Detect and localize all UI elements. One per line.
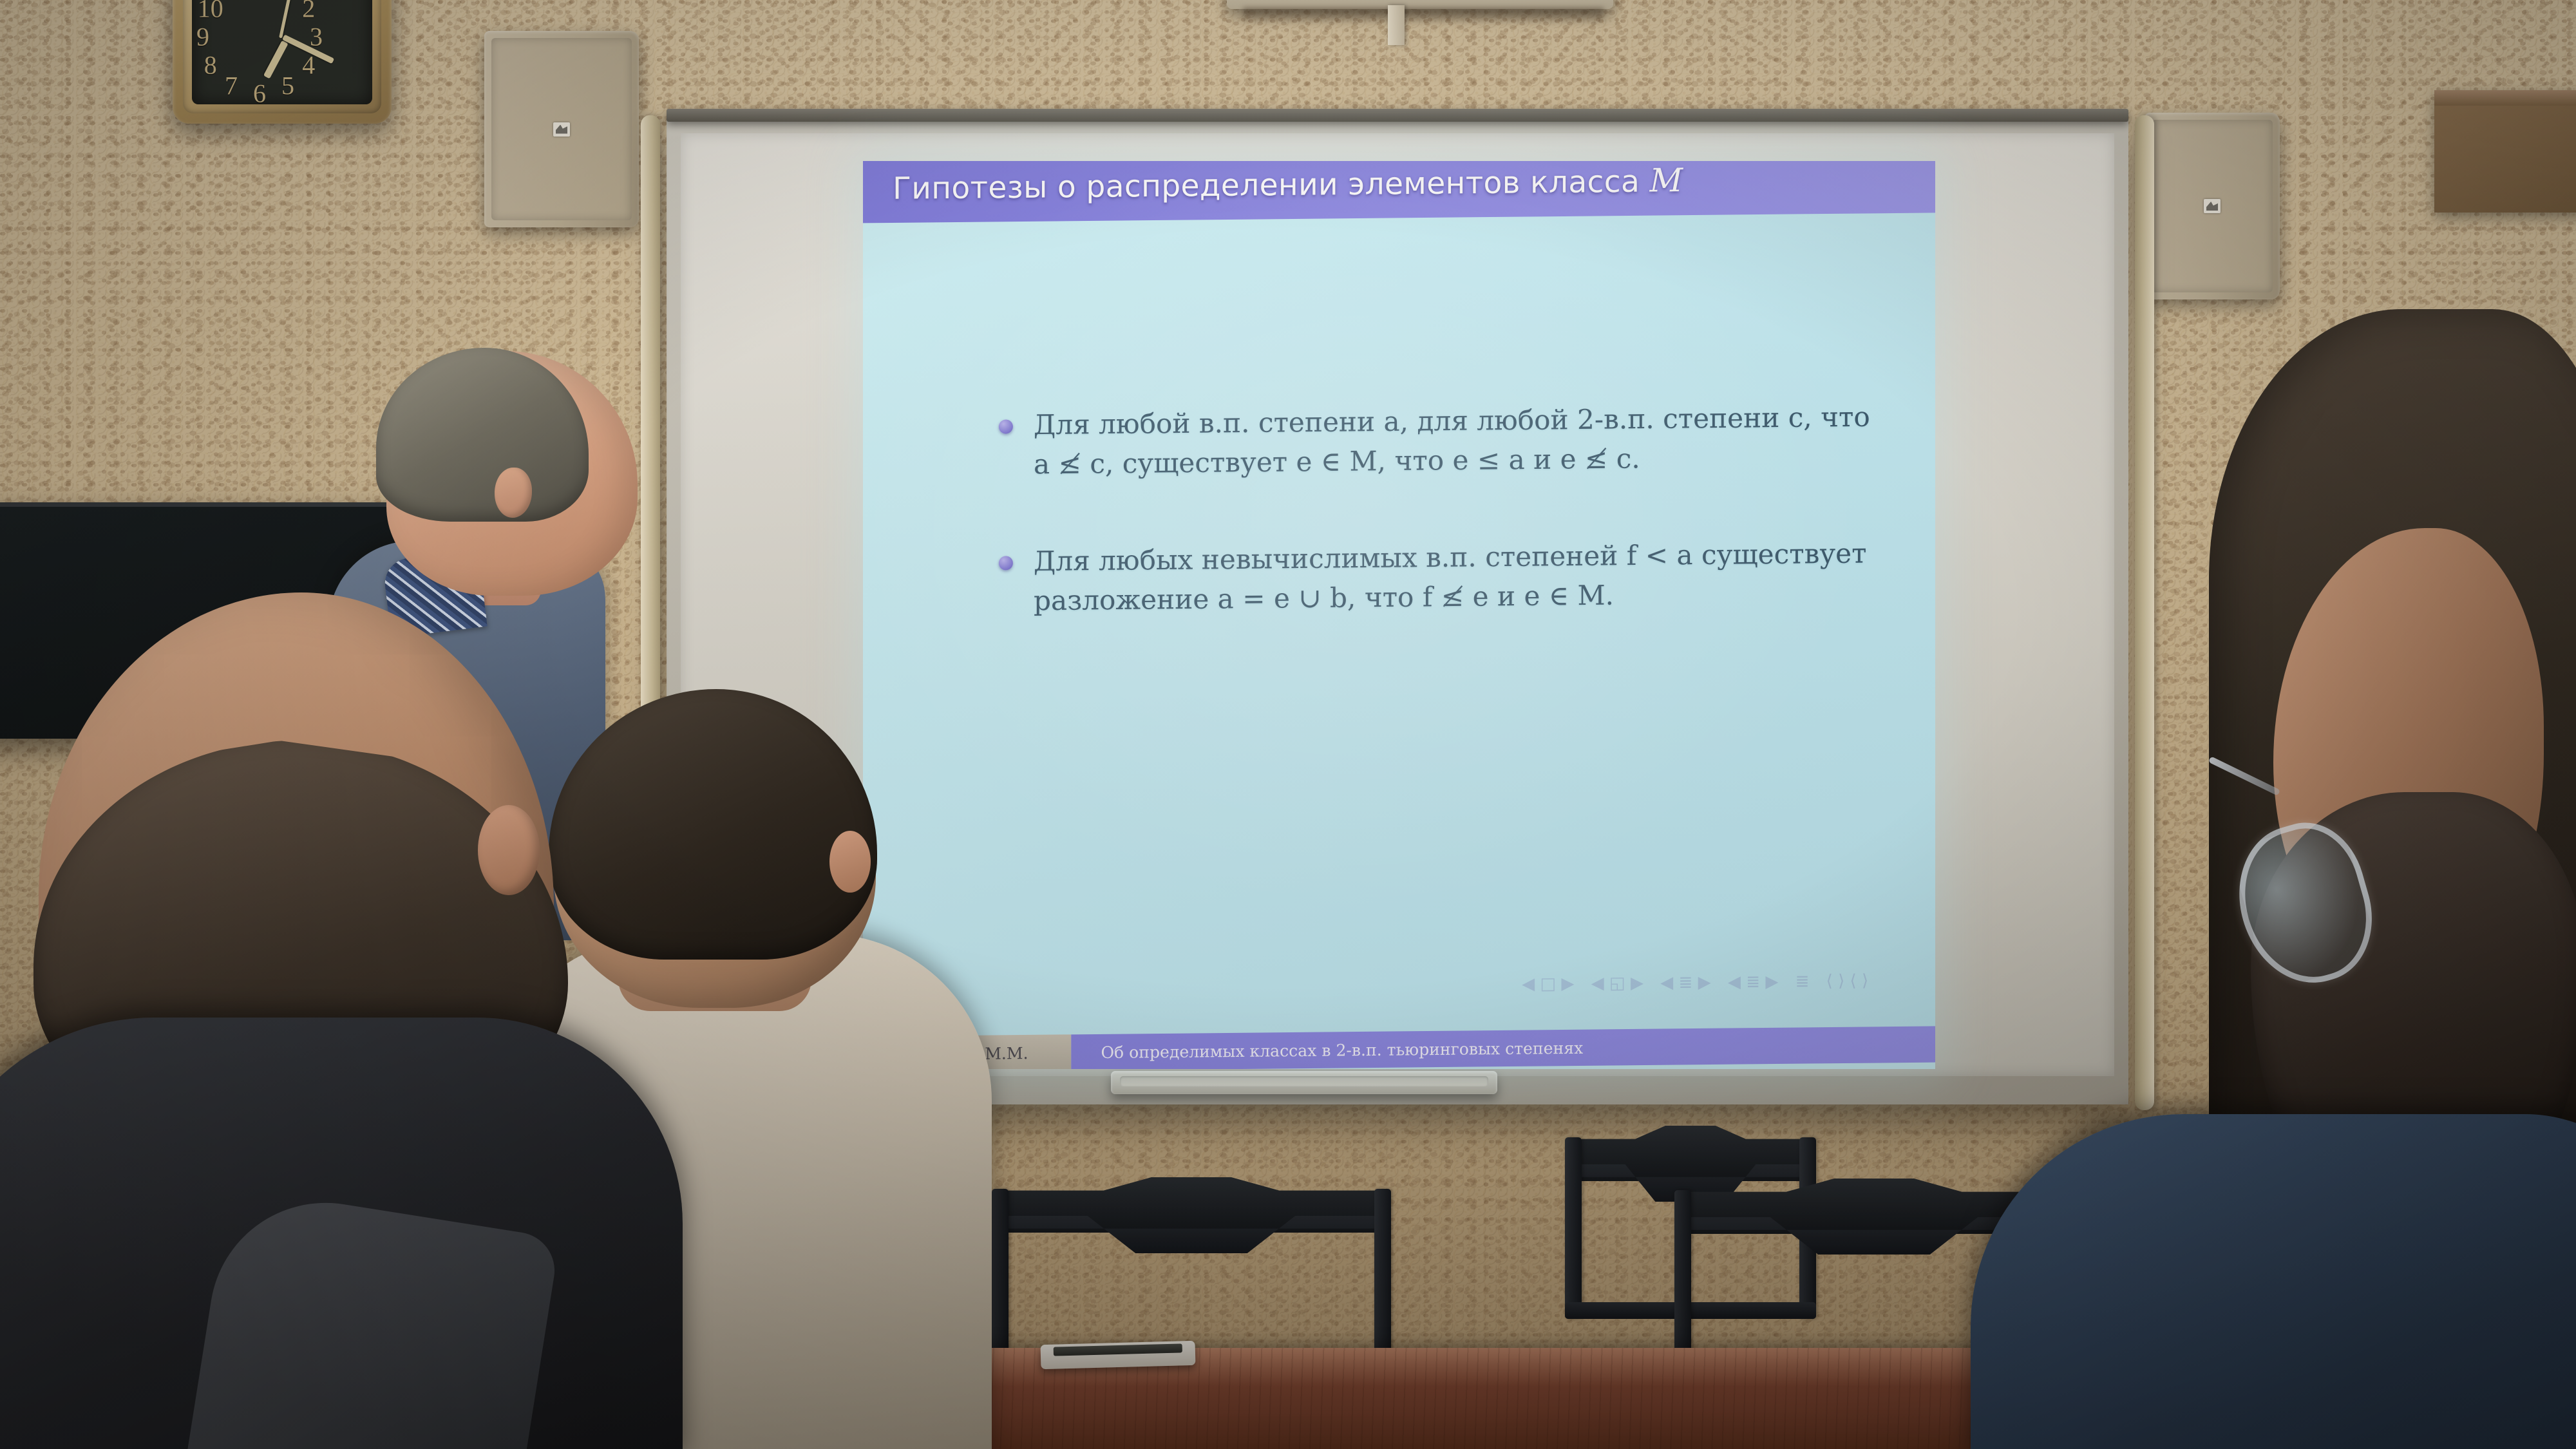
projector-mount-pole [1388, 5, 1405, 45]
whiteboard-pen-tray [1111, 1071, 1497, 1094]
wall-clock: 121234567891011 [173, 0, 392, 124]
chair-post-left [992, 1189, 1009, 1370]
audience-left-torso [0, 1018, 683, 1449]
nav-symbol[interactable]: ⟨ ⟩ ⟨ ⟩ [1826, 971, 1869, 991]
projector-mount-shadow [1243, 8, 1604, 24]
nav-symbol[interactable]: ◀ ≣ ▶ [1660, 972, 1711, 992]
speaker-logo-icon [553, 122, 570, 137]
nav-symbol[interactable]: ◀ □ ▶ [1522, 974, 1574, 994]
whiteboard-top-rail [667, 109, 2128, 122]
talk-title: Об определимых классах в 2-в.п. тьюринго… [1101, 1038, 1583, 1061]
nav-symbol[interactable]: ◀ ≣ ▶ [1728, 972, 1779, 992]
projected-slide: Гипотезы о распределении элементов класс… [863, 161, 1935, 1069]
clock-numeral: 8 [204, 50, 217, 80]
slide-title-bar: Гипотезы о распределении элементов класс… [863, 161, 1935, 223]
clock-face: 121234567891011 [192, 0, 372, 104]
nav-symbol[interactable]: ◀ ◱ ▶ [1591, 973, 1643, 993]
chair-post-left [1565, 1137, 1582, 1319]
slide-bullet-item: Для любых невычислимых в.п. степеней f <… [999, 533, 1875, 621]
ceiling-speaker-left [484, 31, 639, 227]
slide-bullet-list: Для любой в.п. степени a, для любой 2-в.… [999, 397, 1875, 677]
bullet-line: разложение a = e ∪ b, что f ≰ e и e ∈ M. [1034, 573, 1866, 621]
lecture-room-photo: 121234567891011 Гипотезы о распределении… [0, 0, 2576, 1449]
clock-numeral: 9 [196, 22, 209, 52]
bullet-text: Для любых невычислимых в.п. степеней f <… [1034, 533, 1866, 621]
clock-second-hand [279, 0, 294, 39]
bullet-dot-icon [999, 419, 1013, 433]
whiteboard-post-right [2135, 115, 2154, 1110]
slide-title-symbol: M [1650, 162, 1683, 200]
bullet-line: a ≰ c, существует e ∈ M, что e ≤ a и e ≰… [1034, 437, 1870, 484]
slide-title: Гипотезы о распределении элементов класс… [863, 162, 1683, 207]
chair-post-right [1374, 1189, 1391, 1370]
bullet-line: Для любой в.п. степени a, для любой 2-в.… [1034, 397, 1870, 445]
clock-numeral: 11 [219, 0, 244, 3]
nav-symbol[interactable]: ≣ [1795, 972, 1810, 991]
speaker-logo-icon [2204, 199, 2221, 213]
clock-numeral: 5 [281, 71, 294, 101]
bullet-dot-icon [999, 556, 1013, 570]
clock-numeral: 10 [198, 0, 223, 24]
slide-bullet-item: Для любой в.п. степени a, для любой 2-в.… [999, 397, 1875, 484]
bullet-line: Для любых невычислимых в.п. степеней f <… [1034, 533, 1866, 581]
clock-numeral: 7 [225, 71, 238, 101]
clock-numeral: 2 [302, 0, 315, 24]
beamer-navigation-symbols[interactable]: ◀ □ ▶◀ ◱ ▶◀ ≣ ▶◀ ≣ ▶≣⟨ ⟩ ⟨ ⟩ [1522, 971, 1868, 994]
clock-numeral: 6 [253, 79, 266, 109]
audience-middle-ear [829, 831, 871, 893]
bullet-text: Для любой в.п. степени a, для любой 2-в.… [1034, 397, 1870, 485]
smartphone [1041, 1341, 1196, 1369]
wall-cabinet [2434, 90, 2576, 213]
audience-right-torso [1971, 1114, 2576, 1449]
chair-post-left [1674, 1190, 1691, 1372]
audience-left-ear [478, 805, 540, 895]
ceiling-speaker-right [2145, 113, 2280, 299]
